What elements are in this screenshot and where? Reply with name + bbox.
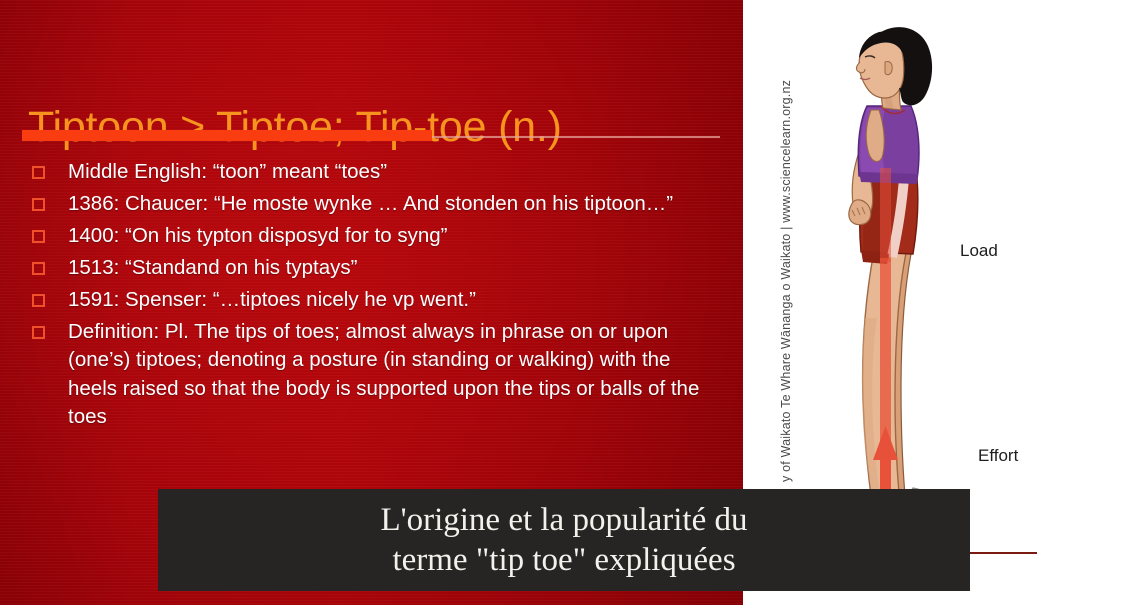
list-item: 1513: “Standand on his typtays” [28,254,718,282]
list-item-text: 1386: Chaucer: “He moste wynke … And sto… [68,190,718,218]
list-item-text: 1400: “On his typton disposyd for to syn… [68,222,718,250]
caption-overlay: L'origine et la popularité du terme "tip… [158,489,970,591]
list-item-text: 1591: Spenser: “…tiptoes nicely he vp we… [68,286,718,314]
list-item: 1591: Spenser: “…tiptoes nicely he vp we… [28,286,718,314]
bullet-square-icon [32,230,45,243]
bullet-square-icon [32,326,45,339]
list-item: Middle English: “toon” meant “toes” [28,158,718,186]
bullet-square-icon [32,198,45,211]
list-item-text: Definition: Pl. The tips of toes; almost… [68,318,718,430]
caption-text: L'origine et la popularité du terme "tip… [363,500,766,581]
bullet-square-icon [32,262,45,275]
list-item: 1386: Chaucer: “He moste wynke … And sto… [28,190,718,218]
image-credit-vertical: y of Waikato Te Whare Wānanga o Waikato … [779,12,793,482]
list-item-text: Middle English: “toon” meant “toes” [68,158,718,186]
caption-line-2: terme "tip toe" expliquées [392,542,735,578]
title-underline-thick [22,130,432,141]
list-item: 1400: “On his typton disposyd for to syn… [28,222,718,250]
label-load: Load [960,241,998,261]
caption-line-1: L'origine et la popularité du [381,502,748,538]
bullet-square-icon [32,166,45,179]
bullet-square-icon [32,294,45,307]
slide-root: Tiptoon > Tiptoe; Tip-toe (n.) Middle En… [0,0,1126,605]
page-title: Tiptoon > Tiptoe; Tip-toe (n.) [28,105,728,151]
bullet-list: Middle English: “toon” meant “toes” 1386… [28,158,718,435]
list-item: Definition: Pl. The tips of toes; almost… [28,318,718,430]
label-effort: Effort [978,446,1018,466]
list-item-text: 1513: “Standand on his typtays” [68,254,718,282]
